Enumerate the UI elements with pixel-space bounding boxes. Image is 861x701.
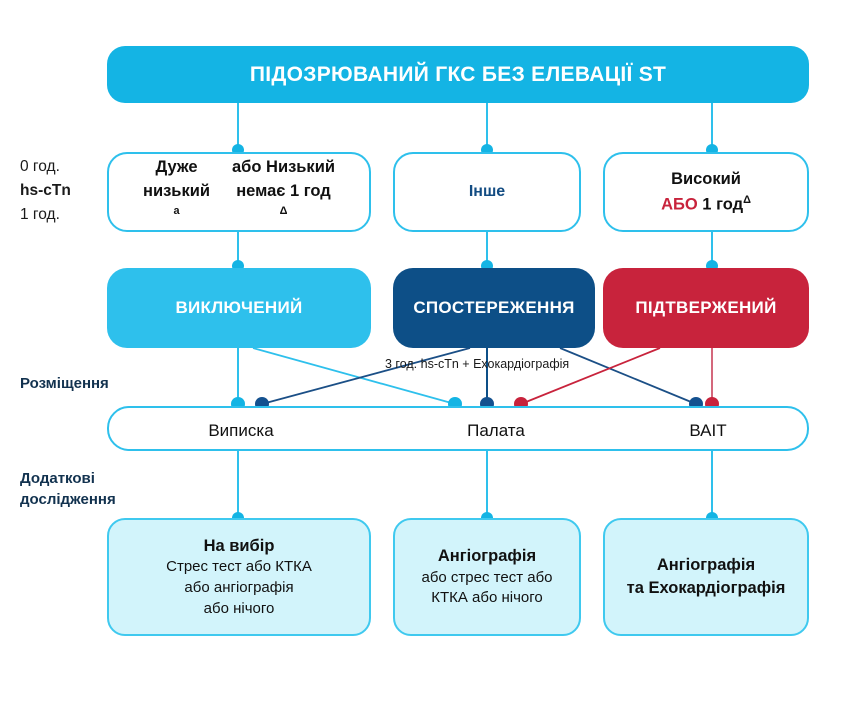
extra-tests-discharge-line3: або нічого — [204, 599, 275, 620]
diagram-canvas: ПІДОЗРЮВАНИЙ ГКС БЕЗ ЕЛЕВАЦІЇ ST 0 год. … — [0, 0, 861, 701]
very-low-footnote: a — [173, 205, 179, 217]
decision-high-footnote: Δ — [743, 194, 751, 206]
status-observation[interactable]: СПОСТЕРЕЖЕННЯ — [393, 268, 595, 348]
status-confirmed-label: ПІДТВЕРЖЕНИЙ — [635, 298, 776, 318]
decision-high-or: АБО — [661, 195, 698, 213]
troponin-hour-0: 0 год. — [20, 155, 71, 179]
wire-annotation-3h-echo: 3 год. hs-cTn + Ехокардіографія — [385, 357, 569, 371]
extra-tests-icu[interactable]: Ангіографія та Ехокардіографія — [603, 518, 809, 636]
page-title: ПІДОЗРЮВАНИЙ ГКС БЕЗ ЕЛЕВАЦІЇ ST — [107, 46, 809, 103]
placement-discharge[interactable]: Виписка — [109, 408, 373, 453]
extra-tests-icu-line1: Ангіографія — [657, 554, 755, 577]
decision-high-line2: АБО 1 годΔ — [661, 192, 751, 217]
low-line1: або Низький — [232, 156, 335, 180]
extra-tests-discharge-line2: або ангіографія — [184, 578, 293, 599]
placement-bar: Виписка Палата ВАІТ — [107, 406, 809, 451]
status-excluded[interactable]: ВИКЛЮЧЕНИЙ — [107, 268, 371, 348]
very-low-line1: Дуже — [143, 156, 210, 180]
extra-tests-ward-line2: КТКА або нічого — [431, 588, 543, 609]
decision-very-low-or-low[interactable]: Дуже низькийa або Низький немає 1 годΔ — [107, 152, 371, 232]
placement-ward[interactable]: Палата — [395, 408, 597, 453]
status-observation-label: СПОСТЕРЕЖЕННЯ — [413, 298, 574, 318]
decision-high-line1: Високий — [661, 167, 751, 192]
status-confirmed[interactable]: ПІДТВЕРЖЕНИЙ — [603, 268, 809, 348]
extra-tests-ward-title: Ангіографія — [438, 545, 536, 568]
very-low-line2: низькийa — [143, 180, 210, 228]
extra-tests-ward-line1: або стрес тест або — [421, 568, 552, 589]
extra-tests-discharge[interactable]: На вибір Стрес тест або КТКА або ангіогр… — [107, 518, 371, 636]
extra-tests-row-label: Додаткові дослідження — [20, 468, 116, 510]
extra-tests-icu-line2: та Ехокардіографія — [627, 577, 786, 600]
extra-tests-discharge-line1: Стрес тест або КТКА — [166, 557, 312, 578]
troponin-timeline-label: 0 год. hs-cTn 1 год. — [20, 155, 71, 227]
placement-row-label: Розміщення — [20, 375, 109, 392]
troponin-assay-name: hs-cTn — [20, 179, 71, 203]
decision-other-label: Інше — [469, 183, 505, 201]
low-line2: немає 1 годΔ — [232, 180, 335, 228]
decision-other[interactable]: Інше — [393, 152, 581, 232]
extra-tests-label-line1: Додаткові — [20, 468, 116, 489]
status-excluded-label: ВИКЛЮЧЕНИЙ — [175, 298, 302, 318]
very-low-group: Дуже низькийa — [143, 156, 210, 228]
title-text: ПІДОЗРЮВАНИЙ ГКС БЕЗ ЕЛЕВАЦІЇ ST — [250, 63, 666, 87]
extra-tests-ward[interactable]: Ангіографія або стрес тест або КТКА або … — [393, 518, 581, 636]
low-footnote: Δ — [280, 205, 288, 217]
extra-tests-discharge-title: На вибір — [204, 535, 275, 558]
troponin-hour-1: 1 год. — [20, 203, 71, 227]
decision-high[interactable]: Високий АБО 1 годΔ — [603, 152, 809, 232]
extra-tests-label-line2: дослідження — [20, 489, 116, 510]
low-group: або Низький немає 1 годΔ — [232, 156, 335, 228]
placement-icu[interactable]: ВАІТ — [605, 408, 811, 453]
